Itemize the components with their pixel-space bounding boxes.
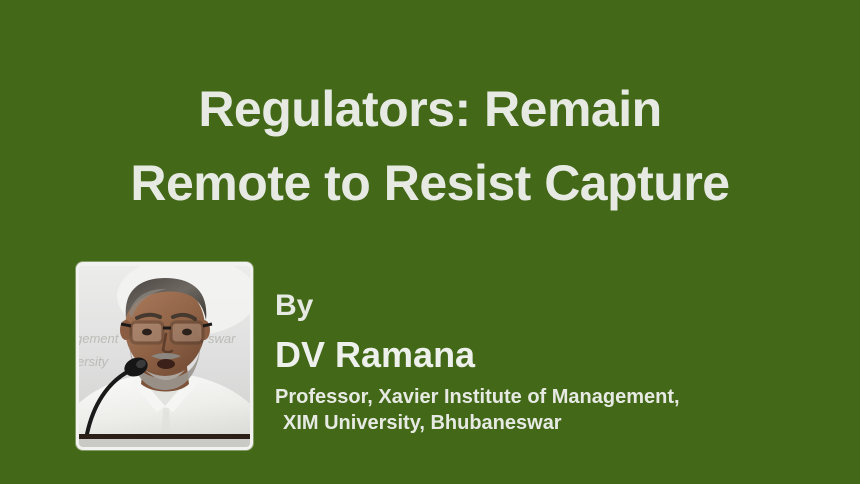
speaker-photo: gement swar ersity bbox=[79, 266, 250, 447]
title-line-2: Remote to Resist Capture bbox=[0, 146, 860, 220]
svg-text:gement: gement bbox=[79, 331, 120, 346]
slide-title: Regulators: Remain Remote to Resist Capt… bbox=[0, 72, 860, 220]
speaker-portrait-image: gement swar ersity bbox=[79, 266, 250, 447]
affiliation-line-2: XIM University, Bhubaneswar bbox=[275, 410, 845, 436]
by-label: By bbox=[275, 286, 845, 326]
author-name: DV Ramana bbox=[275, 332, 845, 378]
affiliation-line-1: Professor, Xavier Institute of Managemen… bbox=[275, 384, 845, 410]
speaker-photo-frame: gement swar ersity bbox=[76, 262, 253, 450]
presentation-slide: Regulators: Remain Remote to Resist Capt… bbox=[0, 0, 860, 484]
svg-text:swar: swar bbox=[208, 331, 236, 346]
title-line-1: Regulators: Remain bbox=[0, 72, 860, 146]
byline-block: By DV Ramana Professor, Xavier Institute… bbox=[275, 286, 845, 436]
svg-text:ersity: ersity bbox=[79, 354, 110, 369]
